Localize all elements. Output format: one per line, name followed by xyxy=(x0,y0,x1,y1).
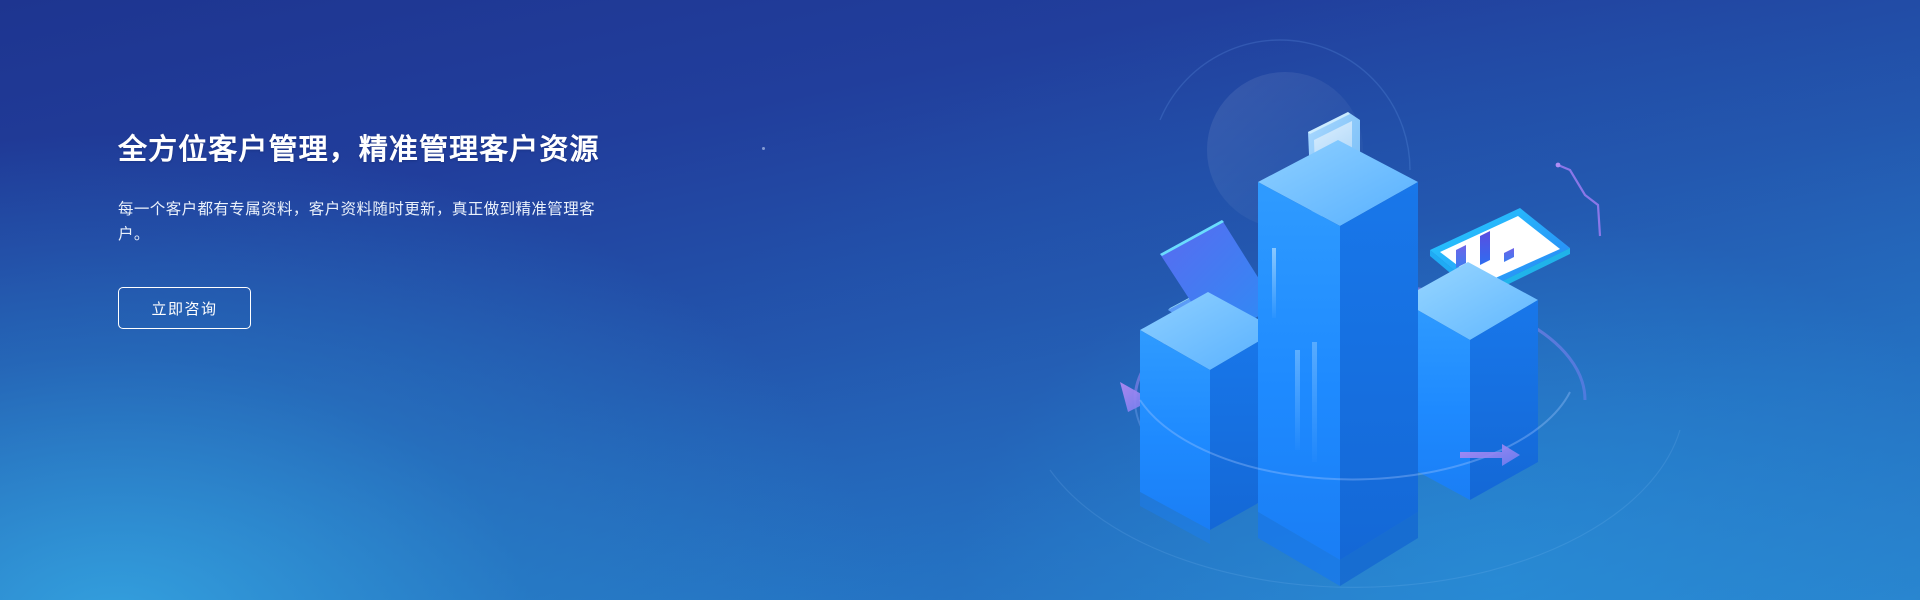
hero-copy: 全方位客户管理，精准管理客户资源 每一个客户都有专属资料，客户资料随时更新，真正… xyxy=(118,132,738,329)
page-title: 全方位客户管理，精准管理客户资源 xyxy=(118,132,738,168)
hero-illustration xyxy=(1100,0,1620,600)
decorative-dot xyxy=(762,147,765,150)
consult-now-button[interactable]: 立即咨询 xyxy=(118,287,251,329)
pillar-center xyxy=(1258,112,1418,586)
hero-banner: 全方位客户管理，精准管理客户资源 每一个客户都有专属资料，客户资料随时更新，真正… xyxy=(0,0,1920,600)
zigzag-trend-line xyxy=(1556,163,1600,236)
pillar-left xyxy=(1140,220,1278,544)
hero-description: 每一个客户都有专属资料，客户资料随时更新，真正做到精准管理客户。 xyxy=(118,197,610,247)
